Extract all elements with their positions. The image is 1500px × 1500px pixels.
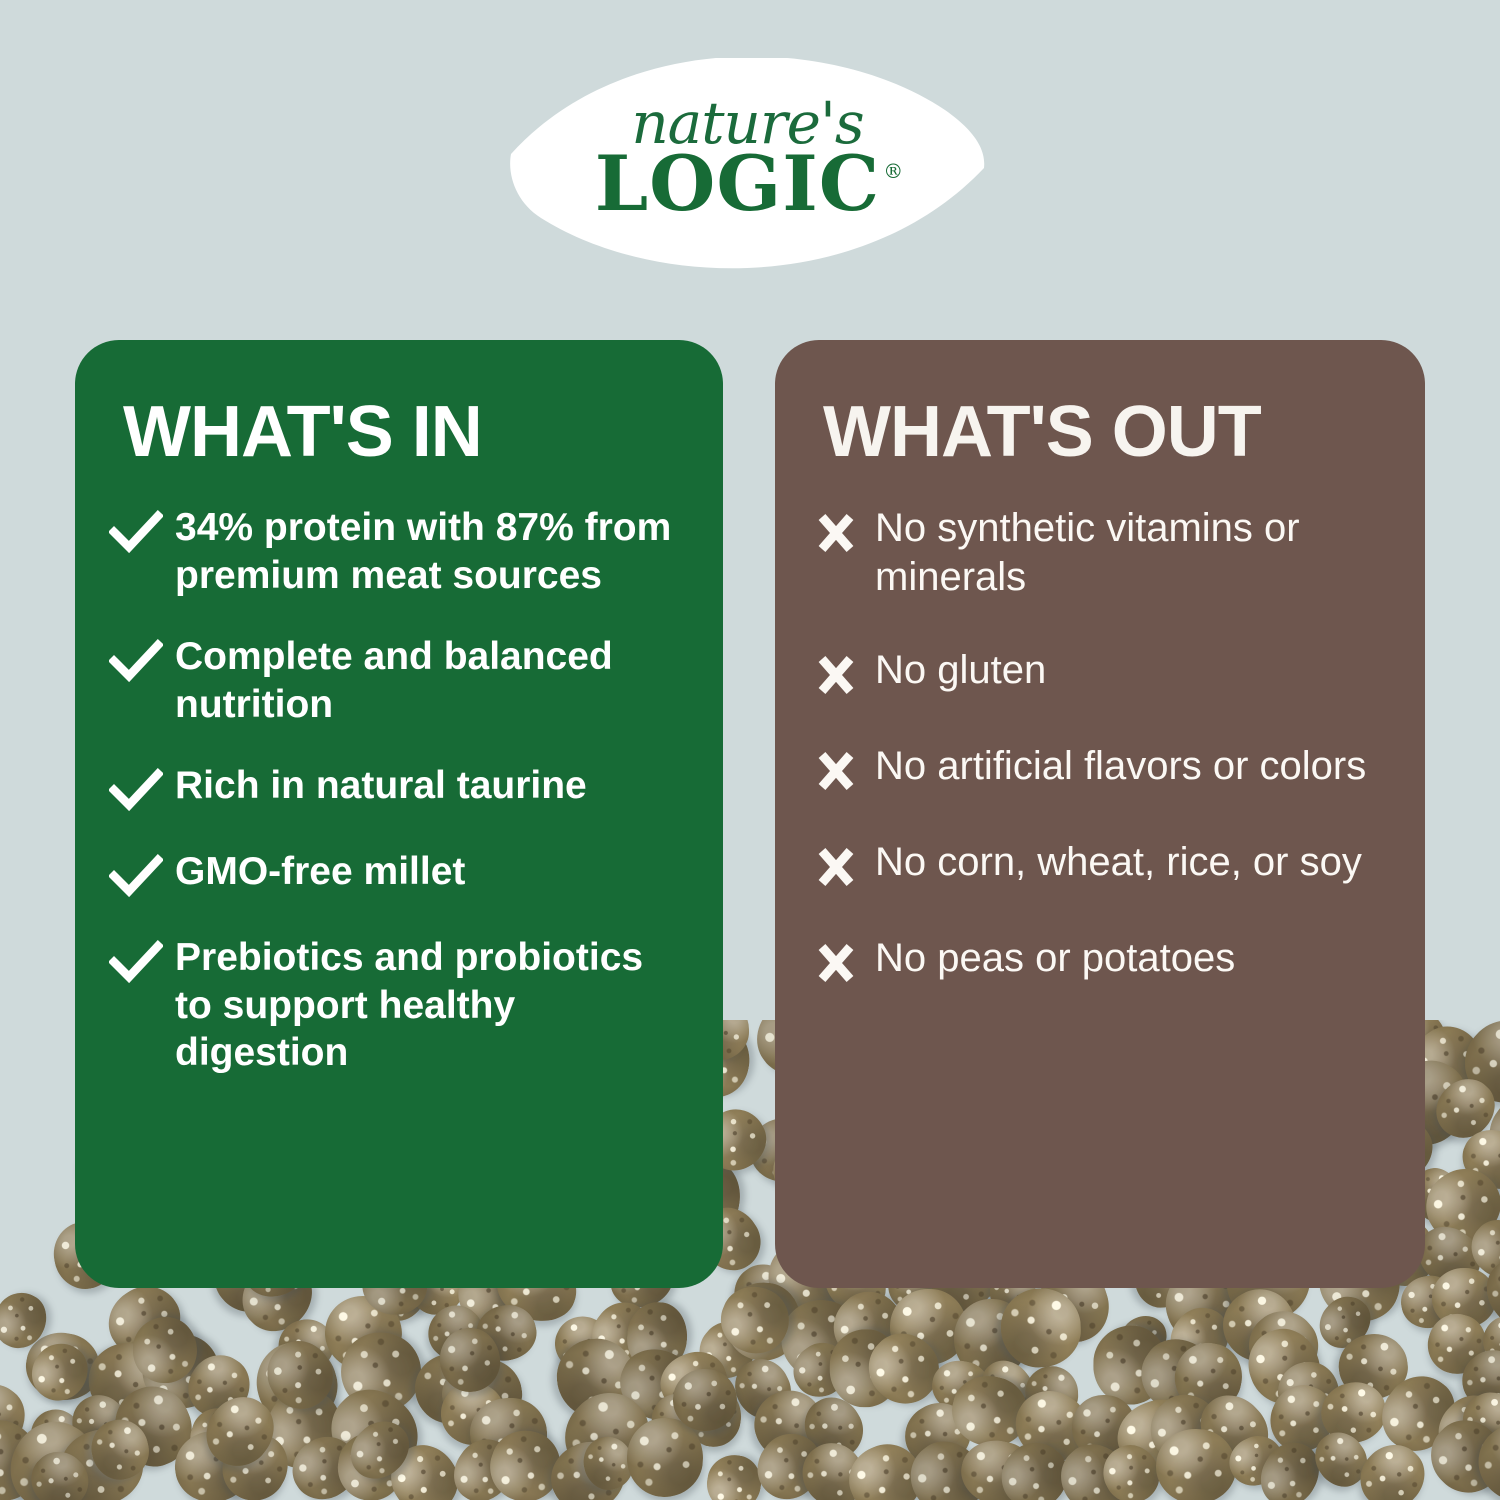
check-icon xyxy=(109,768,163,814)
list-item-label: No synthetic vitamins or minerals xyxy=(875,504,1391,602)
kibble-piece xyxy=(1000,1288,1082,1369)
list-item: No corn, wheat, rice, or soy xyxy=(809,838,1391,890)
list-item: No synthetic vitamins or minerals xyxy=(809,504,1391,602)
list-item-label: Complete and balanced nutrition xyxy=(175,633,689,728)
list-item: Complete and balanced nutrition xyxy=(109,633,689,728)
x-icon xyxy=(809,940,863,986)
x-icon xyxy=(809,652,863,698)
list-item-label: No peas or potatoes xyxy=(875,934,1235,983)
check-icon xyxy=(109,854,163,900)
list-item-label: Rich in natural taurine xyxy=(175,762,587,810)
list-item: GMO-free millet xyxy=(109,848,689,900)
whats-in-title: WHAT'S IN xyxy=(109,396,689,468)
list-item: No peas or potatoes xyxy=(809,934,1391,986)
list-item-label: No corn, wheat, rice, or soy xyxy=(875,838,1362,887)
x-icon xyxy=(809,844,863,890)
check-icon xyxy=(109,510,163,556)
whats-in-panel: WHAT'S IN 34% protein with 87% from prem… xyxy=(75,340,723,1288)
list-item: No gluten xyxy=(809,646,1391,698)
list-item-label: Prebiotics and probiotics to support hea… xyxy=(175,934,689,1077)
list-item: 34% protein with 87% from premium meat s… xyxy=(109,504,689,599)
x-icon xyxy=(809,748,863,794)
list-item: No artificial flavors or colors xyxy=(809,742,1391,794)
list-item-label: No gluten xyxy=(875,646,1046,695)
list-item-label: No artificial flavors or colors xyxy=(875,742,1366,791)
x-icon xyxy=(809,510,863,556)
whats-out-title: WHAT'S OUT xyxy=(809,396,1391,468)
whats-out-list: No synthetic vitamins or minerals No glu… xyxy=(809,504,1391,986)
list-item: Rich in natural taurine xyxy=(109,762,689,814)
kibble-piece xyxy=(703,1451,766,1500)
list-item: Prebiotics and probiotics to support hea… xyxy=(109,934,689,1077)
leaf-logo-shape xyxy=(505,58,990,283)
check-icon xyxy=(109,940,163,986)
product-feature-graphic: nature's LOGIC® WHAT'S IN 34% protein wi… xyxy=(0,0,1500,1500)
list-item-label: 34% protein with 87% from premium meat s… xyxy=(175,504,689,599)
whats-in-list: 34% protein with 87% from premium meat s… xyxy=(109,504,689,1077)
whats-out-panel: WHAT'S OUT No synthetic vitamins or mine… xyxy=(775,340,1425,1288)
list-item-label: GMO-free millet xyxy=(175,848,465,896)
check-icon xyxy=(109,639,163,685)
